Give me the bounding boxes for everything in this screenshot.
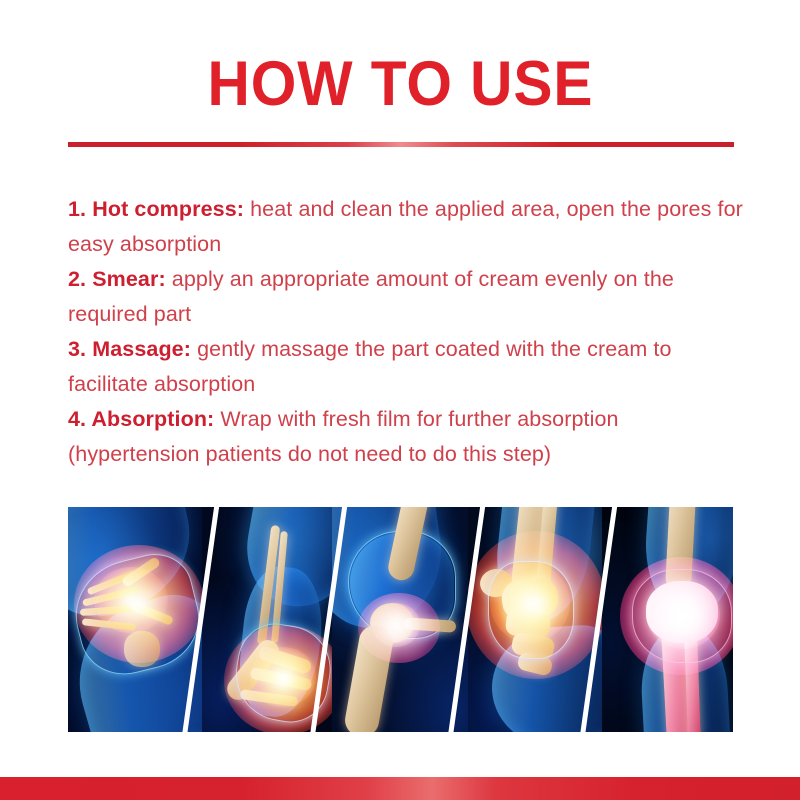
- step-item-3: 3. Massage: gently massage the part coat…: [68, 332, 746, 402]
- step-label-4: 4. Absorption:: [68, 407, 214, 431]
- joint-pain-photo-strip: [68, 507, 733, 732]
- footer-accent-bar: [0, 777, 800, 800]
- instruction-steps: 1. Hot compress: heat and clean the appl…: [68, 192, 746, 472]
- step-item-1: 1. Hot compress: heat and clean the appl…: [68, 192, 746, 262]
- page-title: HOW TO USE: [207, 52, 593, 116]
- step-item-2: 2. Smear: apply an appropriate amount of…: [68, 262, 746, 332]
- step-label-2: 2. Smear:: [68, 267, 166, 291]
- knee-pain-panel: [602, 507, 733, 732]
- step-item-4: 4. Absorption: Wrap with fresh film for …: [68, 402, 746, 472]
- step-label-1: 1. Hot compress:: [68, 197, 244, 221]
- title-block: HOW TO USE: [0, 52, 800, 116]
- title-underline: [68, 142, 734, 147]
- step-label-3: 3. Massage:: [68, 337, 191, 361]
- how-to-use-page: HOW TO USE 1. Hot compress: heat and cle…: [0, 0, 800, 800]
